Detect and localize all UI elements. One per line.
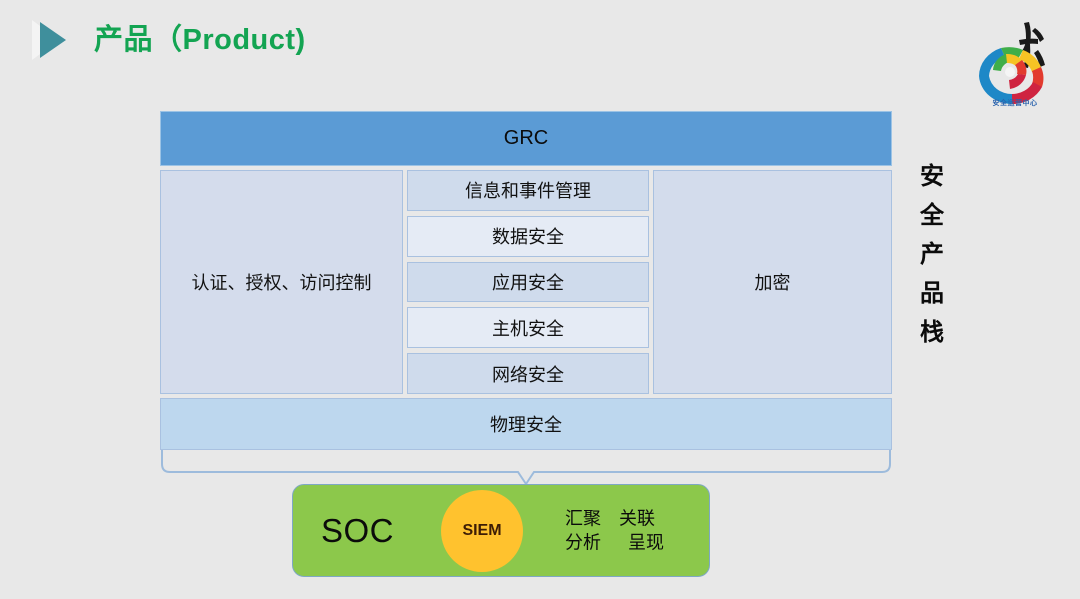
capability-column-2: 关联 呈现 [619,506,664,555]
capability-label: 呈现 [619,531,664,555]
domain-label: 应用安全 [492,269,564,295]
domain-label: 数据安全 [492,223,564,249]
domain-item-network-security: 网络安全 [407,353,649,394]
vertical-char: 品 [912,275,952,314]
vertical-char: 安 [912,158,952,197]
domain-label: 网络安全 [492,361,564,387]
grc-layer: GRC [160,111,892,166]
capability-label: 汇聚 [565,506,601,530]
domain-item-siem: 信息和事件管理 [407,170,649,211]
vertical-stack-label: 安 全 产 品 栈 [912,158,952,352]
grc-label: GRC [504,127,548,150]
stack-middle-row: 认证、授权、访问控制 信息和事件管理 数据安全 应用安全 主机安全 网络安全 加… [160,170,892,394]
logo-caption: 安全运营中心 [972,98,1058,108]
domain-label: 信息和事件管理 [465,177,591,203]
vertical-char: 产 [912,236,952,275]
vertical-char: 全 [912,197,952,236]
physical-security-layer: 物理安全 [160,398,892,450]
domain-label: 主机安全 [492,315,564,341]
siem-badge: SIEM [441,490,523,572]
swirl-logo-icon [972,14,1058,110]
physical-security-label: 物理安全 [490,411,562,437]
access-control-label: 认证、授权、访问控制 [192,269,372,295]
capability-label: 关联 [619,506,664,530]
page-title: 产品（Product) [94,26,306,55]
soc-panel: SOC SIEM 汇聚 分析 关联 呈现 [292,484,710,577]
domain-item-app-security: 应用安全 [407,262,649,303]
play-triangle-icon [32,16,78,64]
access-control-layer: 认证、授权、访问控制 [160,170,403,394]
soc-capabilities: 汇聚 分析 关联 呈现 [565,506,664,555]
soc-title: SOC [321,512,394,550]
security-product-stack: GRC 认证、授权、访问控制 信息和事件管理 数据安全 应用安全 主机安全 网络… [160,111,892,450]
domain-item-host-security: 主机安全 [407,307,649,348]
brand-logo: 安全运营中心 [972,14,1058,110]
encryption-layer: 加密 [653,170,892,394]
capability-column-1: 汇聚 分析 [565,506,601,555]
capability-label: 分析 [565,531,601,555]
vertical-char: 栈 [912,314,952,353]
security-domain-column: 信息和事件管理 数据安全 应用安全 主机安全 网络安全 [407,170,649,394]
encryption-label: 加密 [755,269,791,295]
domain-item-data-security: 数据安全 [407,216,649,257]
slide-header: 产品（Product) [32,16,306,64]
